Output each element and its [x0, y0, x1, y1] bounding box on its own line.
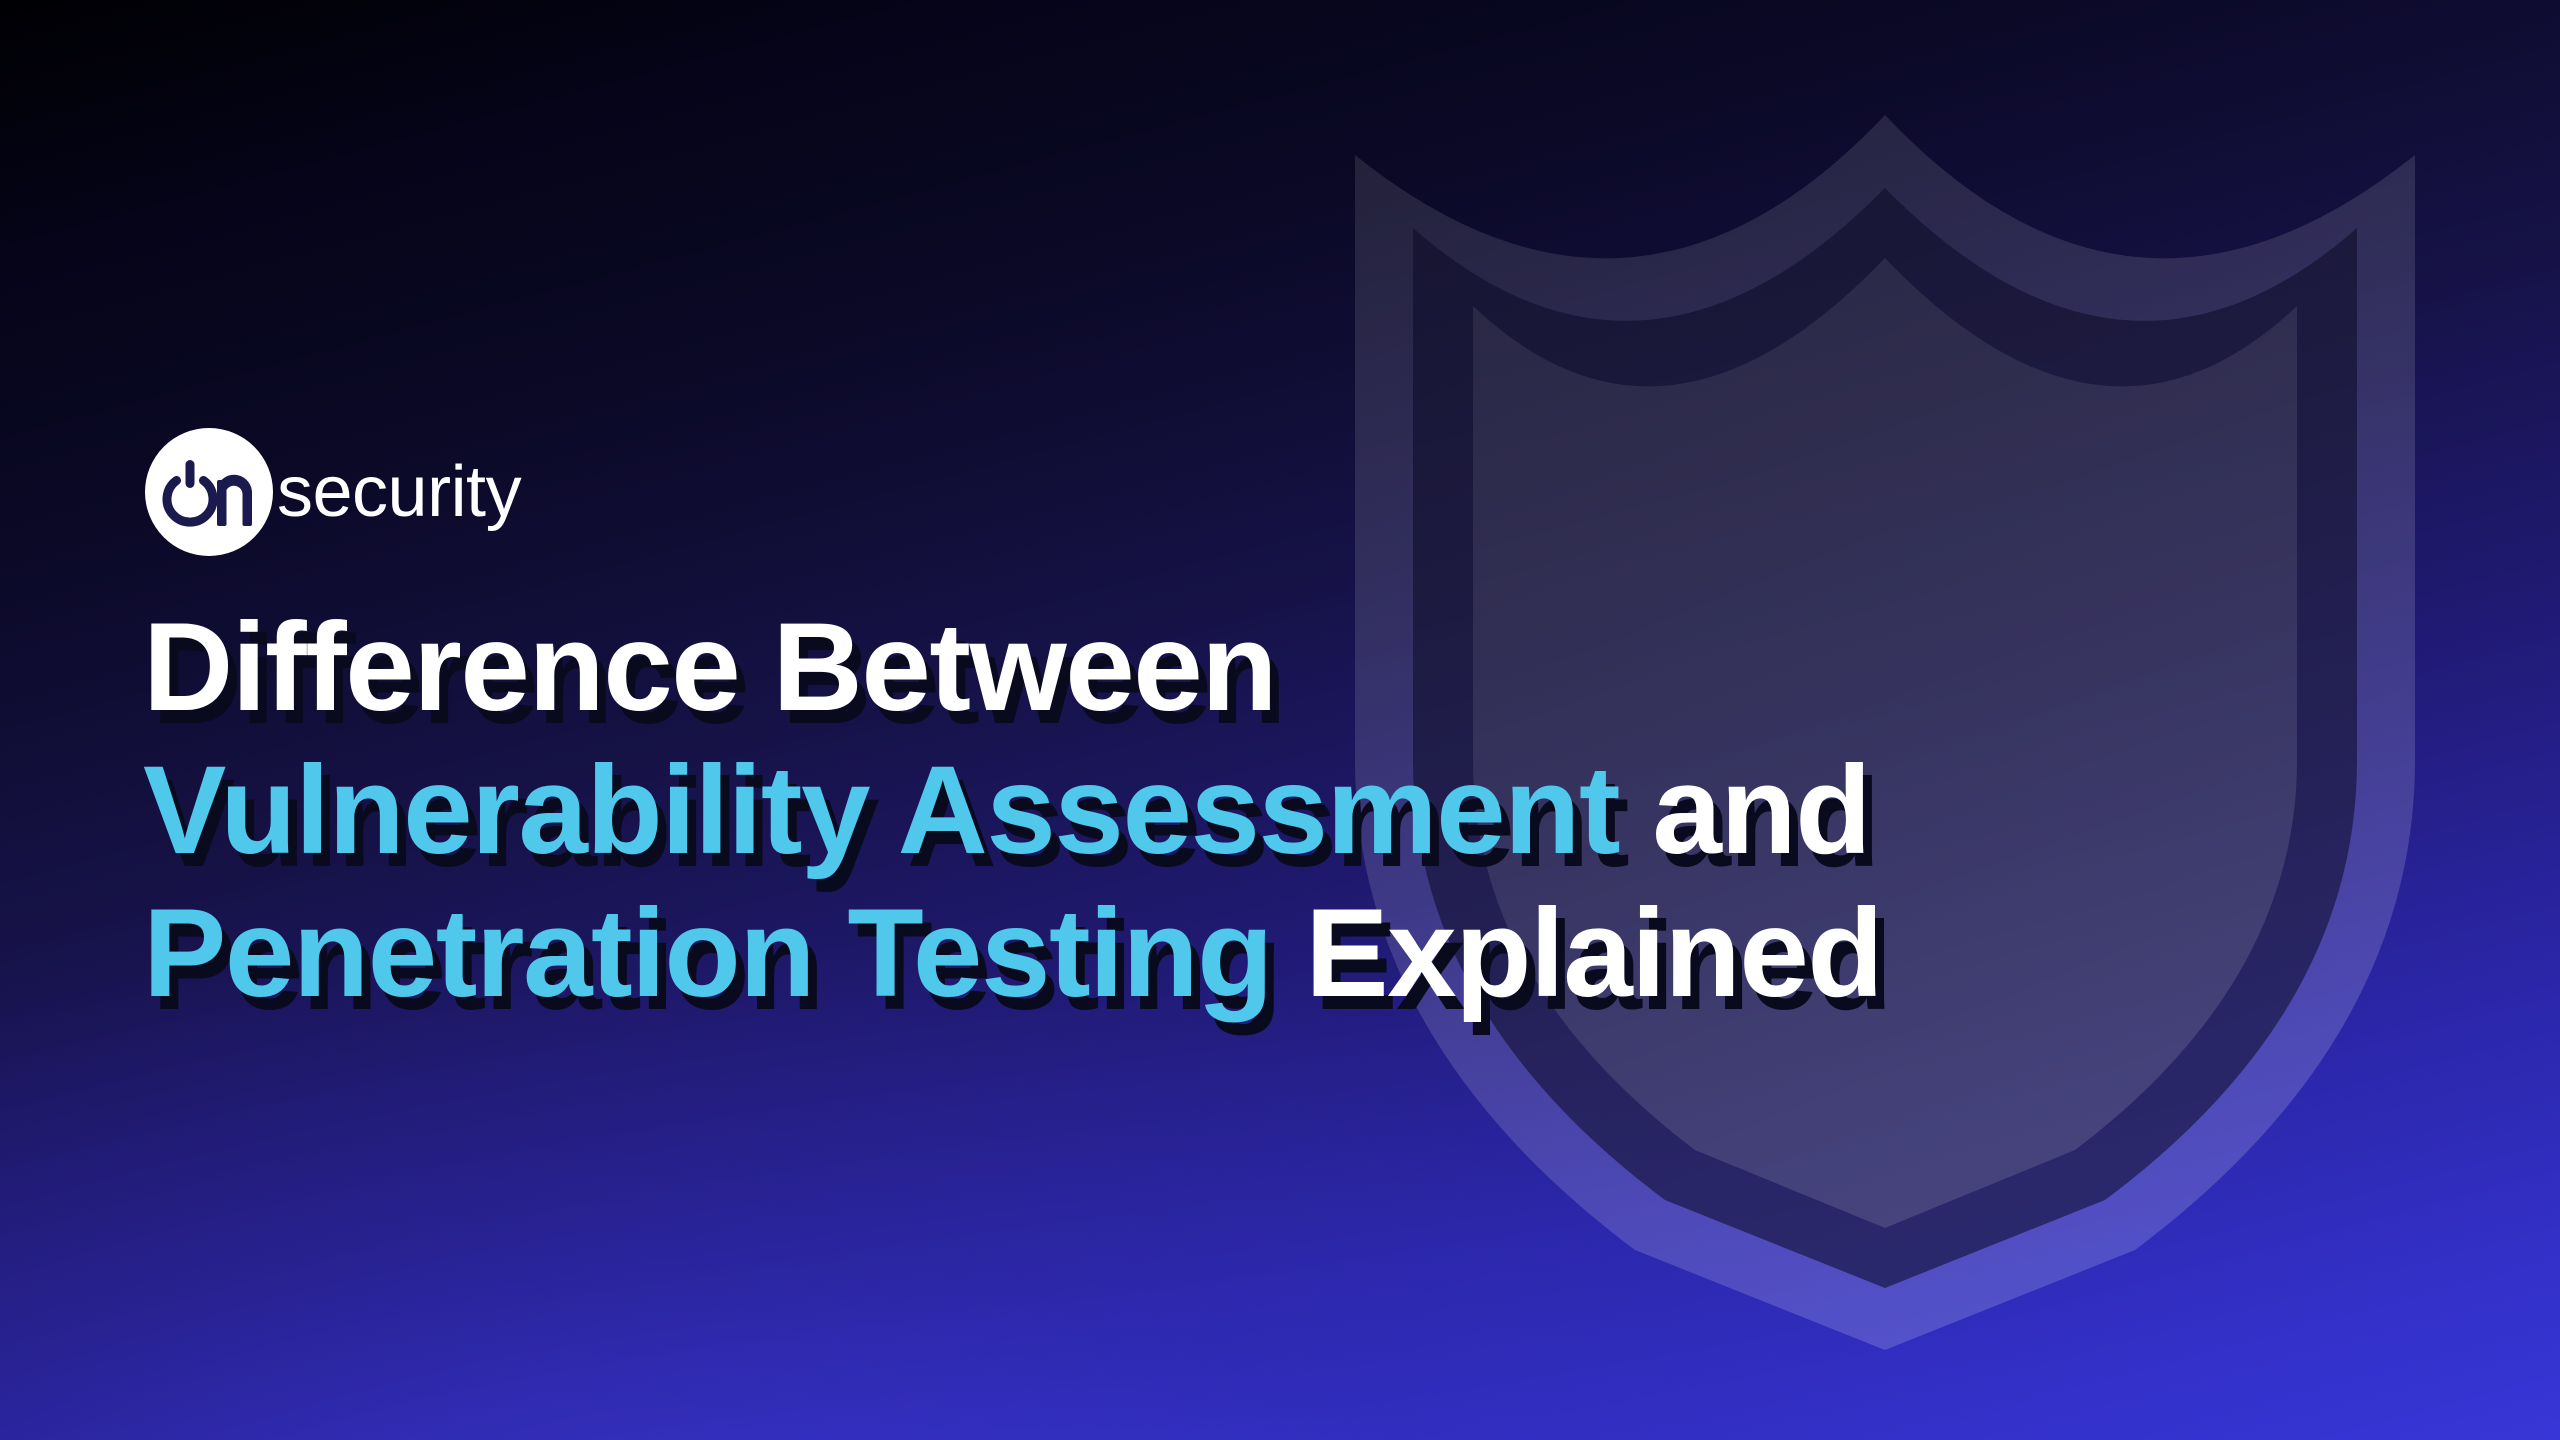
headline-line-2: Vulnerability Assessment and: [143, 739, 2323, 882]
headline-line1-segment-1: Difference Between: [143, 598, 1276, 737]
onsecurity-logo[interactable]: security: [145, 428, 521, 556]
headline-line-3: Penetration Testing Explained: [143, 882, 2323, 1025]
headline-line2-segment-1: Vulnerability Assessment: [143, 741, 1619, 880]
page-title: Difference Between Vulnerability Assessm…: [143, 596, 2323, 1025]
hero-banner: security Difference Between Vulnerabilit…: [0, 0, 2560, 1440]
logo-mark-circle: [145, 428, 273, 556]
headline-line2-segment-2: and: [1619, 741, 1870, 880]
power-on-icon: [145, 428, 273, 556]
logo-wordmark: security: [255, 456, 521, 528]
headline-line3-segment-1: Penetration Testing: [143, 884, 1272, 1023]
headline-line-1: Difference Between: [143, 596, 2323, 739]
headline-line3-segment-2: Explained: [1272, 884, 1882, 1023]
